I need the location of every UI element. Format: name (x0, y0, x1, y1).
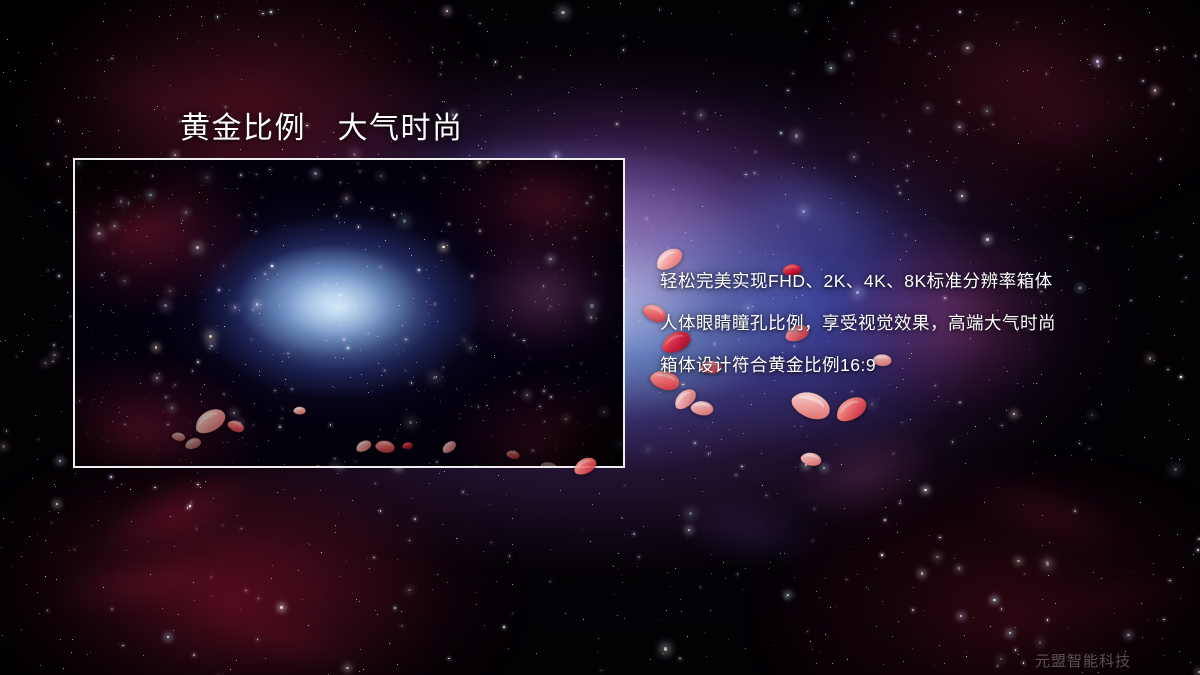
star (792, 73, 794, 75)
star (721, 439, 722, 440)
star (298, 570, 299, 571)
star (882, 488, 883, 489)
star (1142, 107, 1143, 108)
star (1142, 80, 1144, 82)
star (202, 25, 203, 26)
star (1001, 425, 1003, 427)
star (801, 426, 802, 427)
star (309, 544, 310, 545)
rose-petal (688, 397, 715, 418)
rose-petal (785, 382, 836, 428)
star (346, 667, 348, 669)
star (1046, 196, 1047, 197)
star (86, 97, 87, 98)
star (389, 643, 390, 644)
star (462, 491, 464, 493)
star (974, 130, 975, 131)
nebula-red-bottom-right (672, 405, 1200, 675)
star (793, 163, 794, 164)
star (59, 122, 60, 123)
star (302, 36, 303, 37)
star (1049, 542, 1050, 543)
star (784, 553, 785, 554)
star (720, 115, 721, 116)
star (213, 498, 214, 499)
star (40, 63, 41, 64)
star (174, 546, 175, 547)
star (1178, 424, 1179, 425)
star (1080, 60, 1081, 61)
star (1179, 459, 1180, 460)
star (272, 565, 273, 566)
star (1101, 648, 1102, 649)
star (925, 214, 926, 215)
star (479, 23, 481, 25)
star (1023, 504, 1024, 505)
star (614, 594, 615, 595)
star (377, 614, 378, 615)
star (841, 464, 842, 465)
star (983, 128, 985, 130)
star (538, 110, 539, 111)
star (536, 653, 537, 654)
star (844, 508, 845, 509)
star (62, 347, 63, 348)
star (1017, 560, 1019, 562)
star (47, 610, 49, 612)
star (1007, 80, 1008, 81)
star (683, 113, 685, 115)
star (369, 568, 370, 569)
star (902, 99, 903, 100)
star (883, 115, 885, 117)
star (966, 656, 967, 657)
star (360, 649, 361, 650)
star (990, 626, 991, 627)
star (303, 34, 304, 35)
panel-vignette (75, 160, 623, 466)
nebula-wisp (632, 458, 868, 602)
star (679, 658, 681, 660)
star (59, 460, 61, 462)
star (662, 479, 663, 480)
star (1059, 123, 1060, 124)
star (1153, 563, 1154, 564)
star (1180, 256, 1182, 258)
star (620, 3, 621, 4)
star (560, 490, 561, 491)
star (1062, 23, 1063, 24)
star (458, 42, 459, 43)
star (238, 29, 239, 30)
star (1180, 376, 1182, 378)
star (1021, 415, 1022, 416)
star (321, 24, 322, 25)
star (359, 601, 360, 602)
star (885, 507, 886, 508)
star (217, 55, 218, 56)
star (897, 186, 899, 188)
star (103, 21, 104, 22)
star (1074, 510, 1076, 512)
star (902, 552, 903, 553)
star (894, 33, 895, 34)
star (893, 35, 895, 37)
star (1085, 423, 1086, 424)
star (1101, 578, 1102, 579)
star (503, 479, 504, 480)
star (596, 135, 597, 136)
star (355, 6, 356, 7)
star (515, 509, 516, 510)
star (1023, 386, 1024, 387)
star (280, 606, 282, 608)
star (841, 203, 842, 204)
star (1086, 243, 1087, 244)
star (1042, 545, 1043, 546)
star (868, 589, 869, 590)
star (616, 123, 618, 125)
star (659, 8, 661, 10)
star (154, 487, 156, 489)
star (773, 645, 774, 646)
star (950, 190, 951, 191)
star (645, 148, 646, 149)
nebula-wisp (6, 527, 275, 642)
star (16, 356, 18, 358)
star (868, 142, 869, 143)
star (924, 489, 926, 491)
star (212, 595, 213, 596)
star (173, 630, 174, 631)
star (194, 600, 195, 601)
star (967, 134, 968, 135)
star (556, 46, 557, 47)
star (353, 153, 356, 156)
star (992, 163, 993, 164)
star (75, 473, 76, 474)
star (442, 524, 443, 525)
star (222, 525, 224, 527)
star (1197, 549, 1199, 551)
star (294, 498, 295, 499)
star (177, 38, 178, 39)
star (673, 189, 674, 190)
star (1119, 57, 1121, 59)
star (780, 132, 782, 134)
star (622, 518, 623, 519)
star (550, 549, 551, 550)
star (159, 16, 160, 17)
star (1077, 125, 1078, 126)
star (104, 71, 105, 72)
star (624, 618, 625, 619)
star (1087, 210, 1088, 211)
star (1092, 156, 1093, 157)
star (1015, 627, 1016, 628)
star (444, 471, 445, 472)
star (737, 150, 738, 151)
star (21, 556, 22, 557)
star (69, 550, 70, 551)
star (835, 392, 836, 393)
star (364, 4, 365, 5)
star (685, 122, 686, 123)
star (823, 467, 825, 469)
star (700, 586, 702, 588)
star (1011, 204, 1012, 205)
star (766, 85, 767, 86)
star (637, 566, 638, 567)
star (881, 554, 883, 556)
star (728, 639, 729, 640)
star (921, 572, 923, 574)
star (814, 167, 815, 168)
star (167, 636, 169, 638)
star (667, 572, 668, 573)
star (55, 305, 56, 306)
star (217, 16, 219, 18)
star (441, 62, 443, 64)
star (1108, 9, 1109, 10)
star (256, 1, 257, 2)
star (626, 241, 627, 242)
star (1078, 202, 1079, 203)
star (476, 604, 477, 605)
star (829, 39, 830, 40)
star (694, 442, 696, 444)
star (111, 58, 113, 60)
star (659, 10, 660, 11)
star (565, 613, 566, 614)
star (588, 7, 589, 8)
star (1086, 29, 1087, 30)
star (984, 539, 985, 540)
star (912, 609, 914, 611)
star (953, 162, 954, 163)
nebula-wisp (29, 10, 280, 179)
star (1082, 672, 1083, 673)
star (511, 66, 512, 67)
star (825, 578, 826, 579)
star (826, 524, 827, 525)
star (773, 254, 774, 255)
star (872, 163, 873, 164)
star (623, 49, 625, 51)
star (1156, 232, 1158, 234)
star (878, 398, 879, 399)
star (659, 428, 660, 429)
star (461, 62, 462, 63)
star (639, 37, 640, 38)
star (1179, 651, 1180, 652)
star (1092, 155, 1093, 156)
star (755, 151, 757, 153)
star (1146, 138, 1147, 139)
star (498, 152, 499, 153)
star (785, 107, 786, 108)
star (103, 587, 104, 588)
star (1041, 423, 1042, 424)
star (896, 387, 897, 388)
star (212, 48, 213, 49)
star (90, 652, 91, 653)
nebula-wisp (922, 435, 1178, 595)
star (432, 47, 434, 49)
star (1141, 603, 1142, 604)
star (362, 50, 363, 51)
star (936, 556, 938, 558)
star (1054, 124, 1055, 125)
star (375, 483, 377, 485)
star (506, 494, 507, 495)
star (191, 501, 193, 503)
star (1013, 413, 1015, 415)
star (847, 42, 848, 43)
star (408, 589, 410, 591)
star (639, 320, 640, 321)
star (509, 555, 511, 557)
star (857, 212, 858, 213)
star (904, 83, 905, 84)
star (825, 62, 826, 63)
star (1120, 108, 1121, 109)
star (58, 275, 60, 277)
star (825, 634, 826, 635)
star (1046, 73, 1048, 75)
star (908, 199, 909, 200)
star (105, 98, 106, 99)
star (828, 21, 829, 22)
star (780, 553, 781, 554)
star (262, 13, 264, 15)
rose-petal (669, 384, 701, 413)
star (24, 314, 25, 315)
star (766, 495, 768, 497)
star (2, 445, 4, 447)
star (493, 65, 494, 66)
star (18, 52, 19, 53)
star (1177, 534, 1178, 535)
star (34, 519, 35, 520)
star (646, 218, 648, 220)
star (570, 55, 571, 56)
star (319, 20, 320, 21)
star (670, 428, 671, 429)
star (397, 525, 398, 526)
star (3, 72, 4, 73)
star (51, 552, 52, 553)
star (851, 2, 853, 4)
star (621, 517, 622, 518)
star (938, 396, 939, 397)
star (952, 441, 954, 443)
star (600, 84, 601, 85)
star (58, 202, 60, 204)
star (735, 474, 737, 476)
star (892, 636, 893, 637)
star (840, 103, 841, 104)
star (861, 195, 862, 196)
star (7, 39, 8, 40)
star (240, 149, 241, 150)
star (959, 11, 961, 13)
star (191, 480, 192, 481)
star (1031, 132, 1032, 133)
star (196, 528, 198, 530)
star (1081, 80, 1082, 81)
star (802, 167, 803, 168)
star (715, 112, 716, 113)
star (835, 444, 836, 445)
star (1144, 437, 1145, 438)
star (127, 25, 128, 26)
star (549, 581, 551, 583)
star (1046, 416, 1047, 417)
star (49, 511, 50, 512)
star (998, 487, 999, 488)
star (1143, 236, 1144, 237)
star (814, 508, 816, 510)
nebula-red-top-right (744, 0, 1200, 270)
star (934, 400, 935, 401)
star (1169, 580, 1171, 582)
star (512, 518, 513, 519)
star (75, 48, 76, 49)
star (663, 653, 664, 654)
star (917, 26, 919, 28)
star (505, 19, 506, 20)
star (1089, 64, 1090, 65)
star (1183, 358, 1184, 359)
star (1046, 561, 1048, 563)
star (37, 534, 38, 535)
star (590, 541, 591, 542)
star (932, 35, 933, 36)
star (1089, 388, 1090, 389)
preview-panel-frame[interactable] (73, 158, 625, 468)
star (257, 639, 259, 641)
star (15, 70, 16, 71)
star (54, 484, 55, 485)
star (1131, 173, 1132, 174)
star (928, 156, 929, 157)
body-line-3: 箱体设计符合黄金比例16:9 (660, 344, 1160, 386)
star (851, 113, 852, 114)
star (853, 546, 854, 547)
star (787, 90, 789, 92)
star (1028, 199, 1029, 200)
star (164, 108, 166, 110)
star (553, 69, 554, 70)
star (484, 625, 485, 626)
star (432, 52, 433, 53)
star (976, 14, 978, 16)
star (491, 542, 493, 544)
star (340, 54, 341, 55)
star (37, 459, 38, 460)
star (618, 57, 619, 58)
star (469, 155, 470, 156)
star (1183, 56, 1184, 57)
star (26, 584, 27, 585)
star (679, 515, 680, 516)
star (1156, 49, 1158, 51)
star (1140, 502, 1141, 503)
star (68, 358, 69, 359)
star (1148, 61, 1149, 62)
star (237, 515, 238, 516)
